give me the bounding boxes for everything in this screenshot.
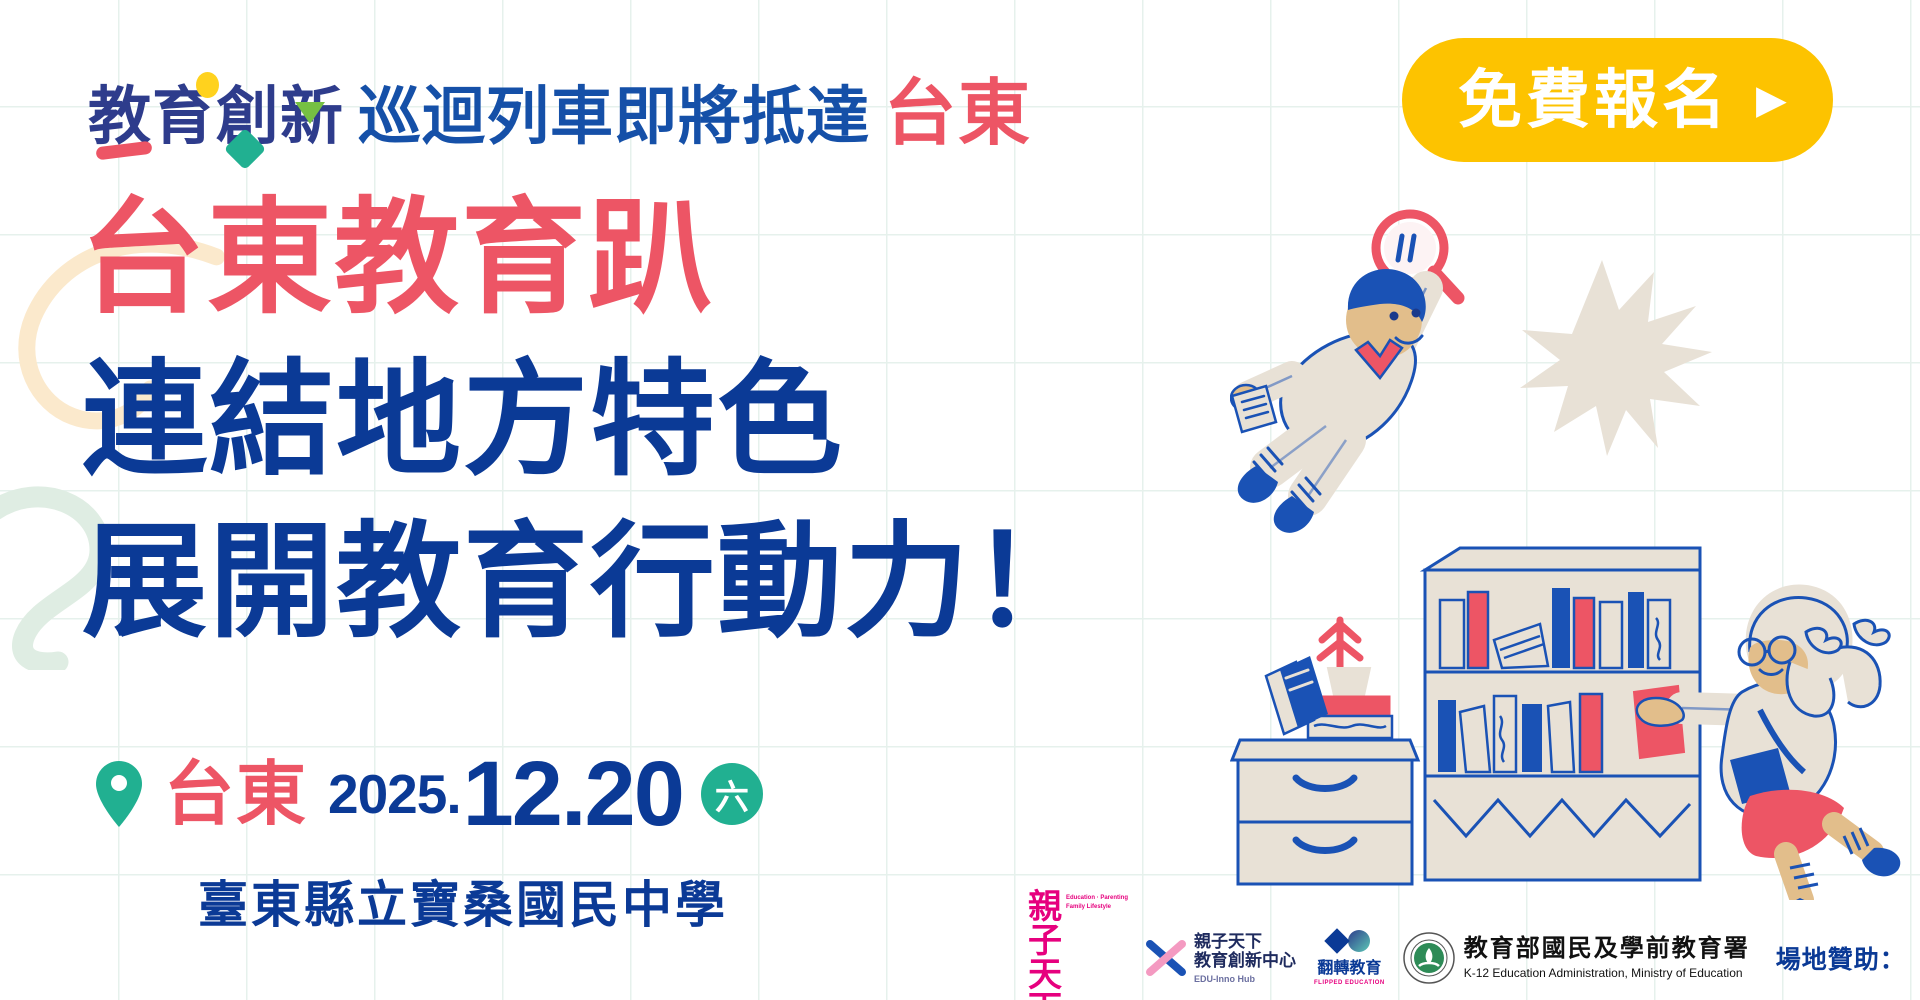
parenting-family-lifestyle-logo: 親子天下 Education · Parenting Family Lifest… (1028, 890, 1128, 1000)
promo-banner: 教育創新 巡迴列車即將抵達 台東 免費報名 ▶ 台東教育趴 連結地方特色 展開教… (0, 0, 1920, 1000)
headline-line-3: 展開教育行動力！ (82, 520, 1098, 645)
edu-inno-hub-logo: 親子天下 教育創新中心 EDU-Inno Hub (1146, 932, 1296, 984)
eduinno-line-2: 教育創新中心 (1194, 951, 1296, 971)
event-year: 2025. (328, 767, 461, 822)
kicker-main-text: 巡迴列車即將抵達 (358, 86, 870, 149)
event-city: 台東 (164, 759, 308, 829)
students-with-bookshelf-illustration (1230, 200, 1920, 900)
free-registration-button[interactable]: 免費報名 ▶ (1402, 38, 1833, 162)
event-weekday-badge: 六 (701, 763, 763, 825)
flipped-education-logo: 翻轉教育 FLIPPED EDUCATION (1314, 930, 1385, 986)
event-venue: 臺東縣立寶桑國民中學 (198, 880, 728, 930)
eduinno-line-3: EDU-Inno Hub (1194, 974, 1296, 984)
parenting-logo-en: Education · Parenting Family Lifestyle (1066, 890, 1128, 911)
footer-logo-row: 親子天下 Education · Parenting Family Lifest… (1028, 920, 1920, 996)
kicker-text-wrapper: 教育創新 (88, 86, 344, 149)
starburst-icon (1520, 260, 1712, 456)
yellow-dot-icon (196, 72, 219, 98)
event-date-row: 台東 2025. 12.20 六 (96, 748, 763, 840)
kicker-line: 教育創新 巡迴列車即將抵達 台東 (88, 78, 1032, 150)
moe-line-1: 教育部國民及學前教育署 (1464, 935, 1750, 964)
cta-label: 免費報名 (1458, 68, 1730, 132)
headline-line-2: 連結地方特色 (82, 358, 844, 483)
moe-seal-icon (1403, 932, 1455, 984)
flipped-line-2: FLIPPED EDUCATION (1314, 980, 1385, 986)
green-triangle-icon (295, 102, 325, 124)
headline-line-1: 台東教育趴 (80, 196, 715, 321)
x-mark-icon (1146, 940, 1186, 976)
location-pin-icon (96, 761, 142, 827)
event-month-day: 12.20 (463, 748, 683, 840)
side-cabinet-with-plant (1232, 620, 1418, 884)
sponsor-label: 場地贊助： (1776, 940, 1906, 976)
flipped-marks-icon (1328, 930, 1370, 952)
moe-line-2: K-12 Education Administration, Ministry … (1464, 966, 1750, 980)
boy-with-magnifier (1231, 214, 1458, 533)
parenting-logo-cn: 親子天下 (1028, 890, 1062, 1000)
kicker-city-text: 台東 (884, 78, 1032, 150)
play-arrow-icon: ▶ (1756, 80, 1787, 120)
eduinno-line-1: 親子天下 (1194, 932, 1296, 952)
flipped-line-1: 翻轉教育 (1317, 954, 1381, 978)
ministry-of-education-logo: 教育部國民及學前教育署 K-12 Education Administratio… (1403, 932, 1750, 984)
